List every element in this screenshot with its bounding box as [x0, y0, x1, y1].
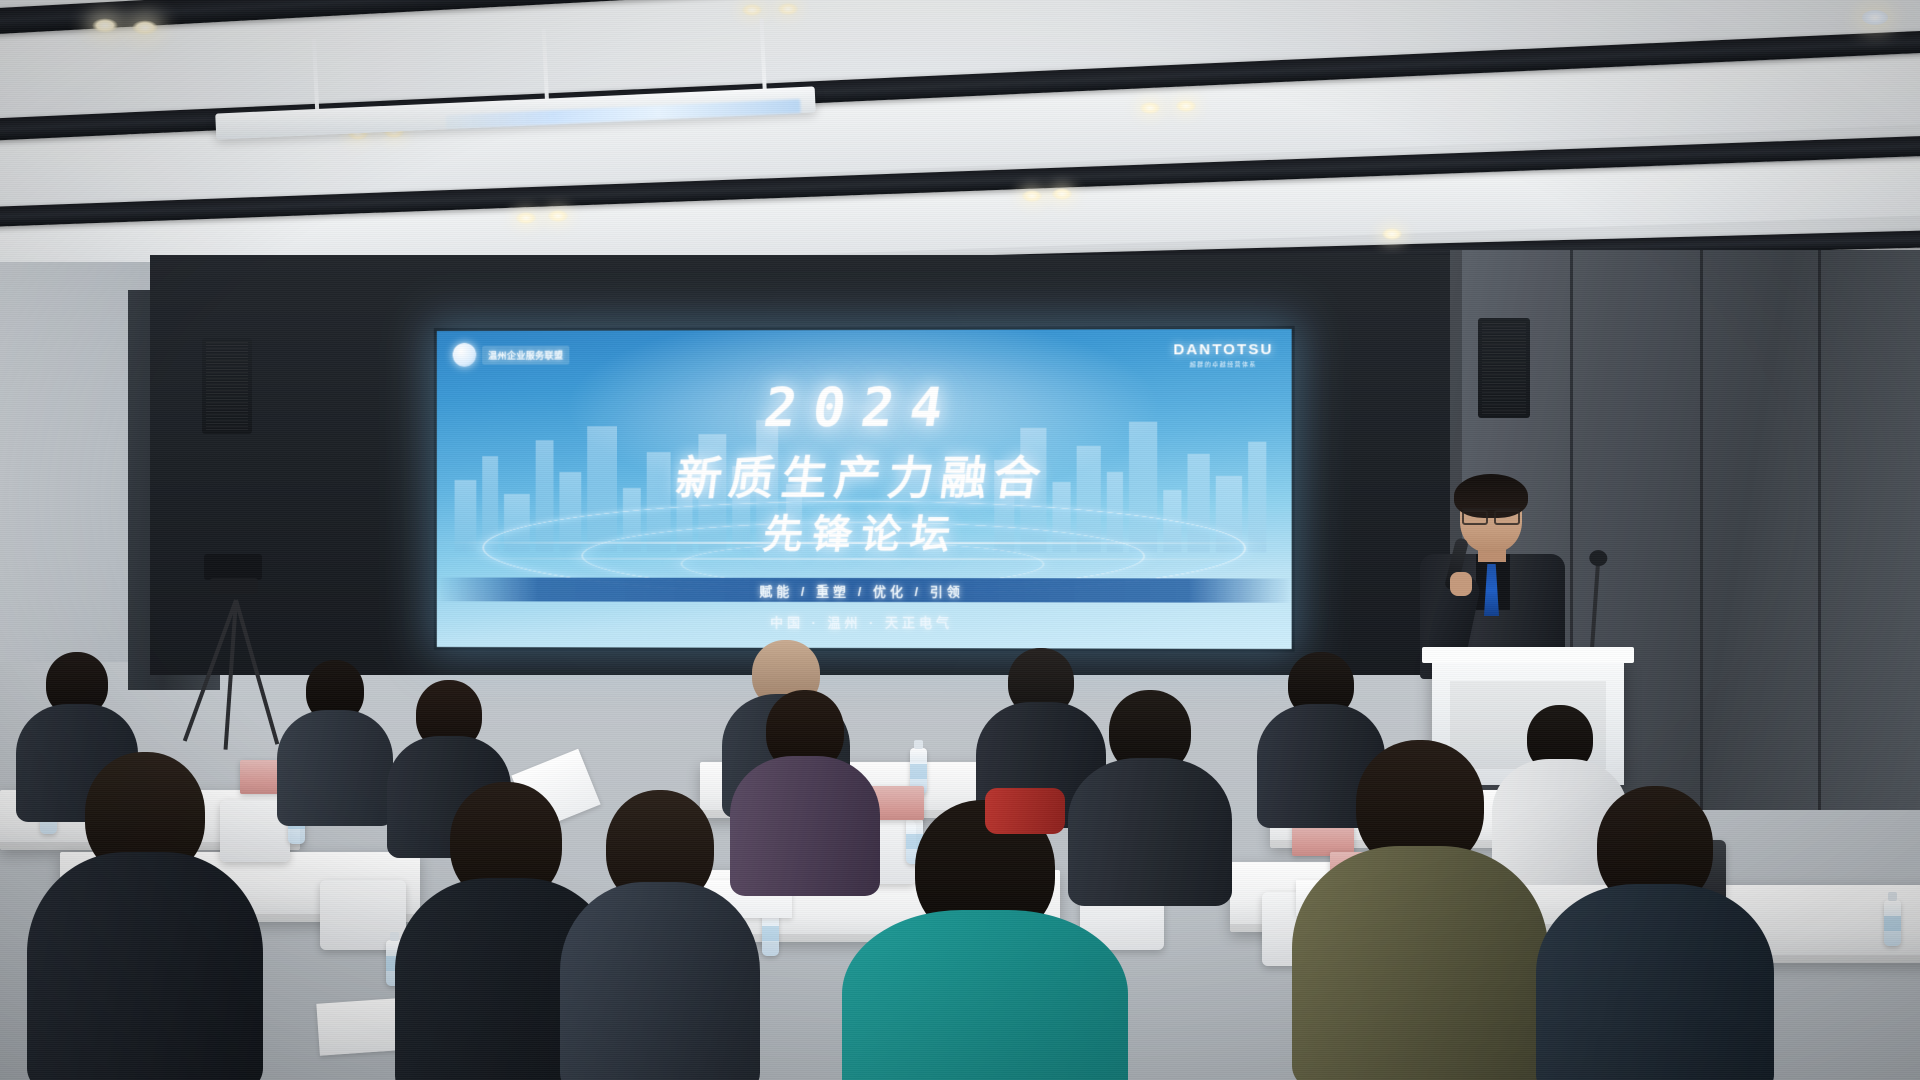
audience-member — [1560, 786, 1750, 1080]
screen-logo-right: DANTOTSU 超群的卓越经营体系 — [1173, 341, 1273, 368]
speaker-mesh — [1482, 322, 1526, 414]
eyeglasses-icon — [1462, 508, 1520, 521]
video-camera-icon — [204, 554, 262, 580]
led-presentation-screen: 温州企业服务联盟 DANTOTSU 超群的卓越经营体系 2024 新质生产力融合… — [437, 329, 1292, 649]
ceiling-speaker — [202, 338, 252, 434]
screenshot-stage: 温州企业服务联盟 DANTOTSU 超群的卓越经营体系 2024 新质生产力融合… — [0, 0, 1920, 1080]
event-headline-line2: 先锋论坛 — [437, 502, 1292, 561]
audience-member — [285, 660, 385, 815]
circular-emblem-icon — [453, 343, 477, 367]
hair-bow-icon — [985, 788, 1065, 834]
speaker-mesh — [206, 342, 248, 430]
screen-logo-left-text: 温州企业服务联盟 — [482, 345, 569, 364]
event-tagline: 赋能 / 重塑 / 优化 / 引领 — [759, 580, 963, 599]
bottle-label — [910, 764, 927, 779]
wall-groove — [1818, 250, 1821, 810]
bottle-label — [762, 926, 779, 941]
spotlight-icon — [1862, 10, 1888, 25]
spotlight-icon — [132, 20, 158, 35]
body — [842, 910, 1128, 1080]
event-year: 2024 — [437, 375, 1292, 439]
audience-member — [740, 690, 870, 875]
brand-subtitle: 超群的卓越经营体系 — [1173, 359, 1273, 368]
event-tagline-band: 赋能 / 重塑 / 优化 / 引领 — [437, 577, 1292, 602]
spotlight-icon — [1176, 100, 1196, 112]
spotlight-icon — [1140, 102, 1160, 114]
audience-member — [1080, 690, 1220, 885]
body — [1292, 846, 1548, 1080]
body — [730, 756, 880, 896]
event-headline-line1: 新质生产力融合 — [437, 442, 1292, 508]
conference-room: 温州企业服务联盟 DANTOTSU 超群的卓越经营体系 2024 新质生产力融合… — [0, 0, 1920, 1080]
spotlight-icon — [92, 18, 118, 33]
body — [27, 852, 263, 1080]
spotlight-icon — [548, 210, 568, 222]
spotlight-icon — [1022, 190, 1042, 202]
audience-member — [1320, 740, 1520, 1080]
body — [1536, 884, 1774, 1080]
wall-groove — [1700, 250, 1703, 810]
spotlight-icon — [778, 3, 798, 15]
bottle-label — [1884, 916, 1901, 931]
camera-tripod — [200, 570, 270, 750]
body — [560, 882, 760, 1080]
spotlight-icon — [1052, 188, 1072, 200]
audience-member — [50, 752, 240, 1080]
body — [277, 710, 393, 826]
podium-top — [1422, 647, 1634, 663]
screen-logo-left: 温州企业服务联盟 — [453, 343, 570, 367]
audience-member — [580, 790, 740, 1080]
event-location-line: 中国 · 温州 · 天正电气 — [437, 611, 1292, 632]
brand-name: DANTOTSU — [1173, 341, 1273, 358]
presenter-hand — [1450, 572, 1472, 596]
hair-bow — [985, 788, 1065, 834]
presenter — [1420, 480, 1565, 675]
spotlight-icon — [1382, 228, 1402, 240]
water-bottle — [1884, 900, 1901, 946]
ceiling-speaker — [1478, 318, 1530, 418]
spotlight-icon — [742, 4, 762, 16]
spotlight-icon — [516, 212, 536, 224]
tripod-head — [210, 578, 258, 594]
